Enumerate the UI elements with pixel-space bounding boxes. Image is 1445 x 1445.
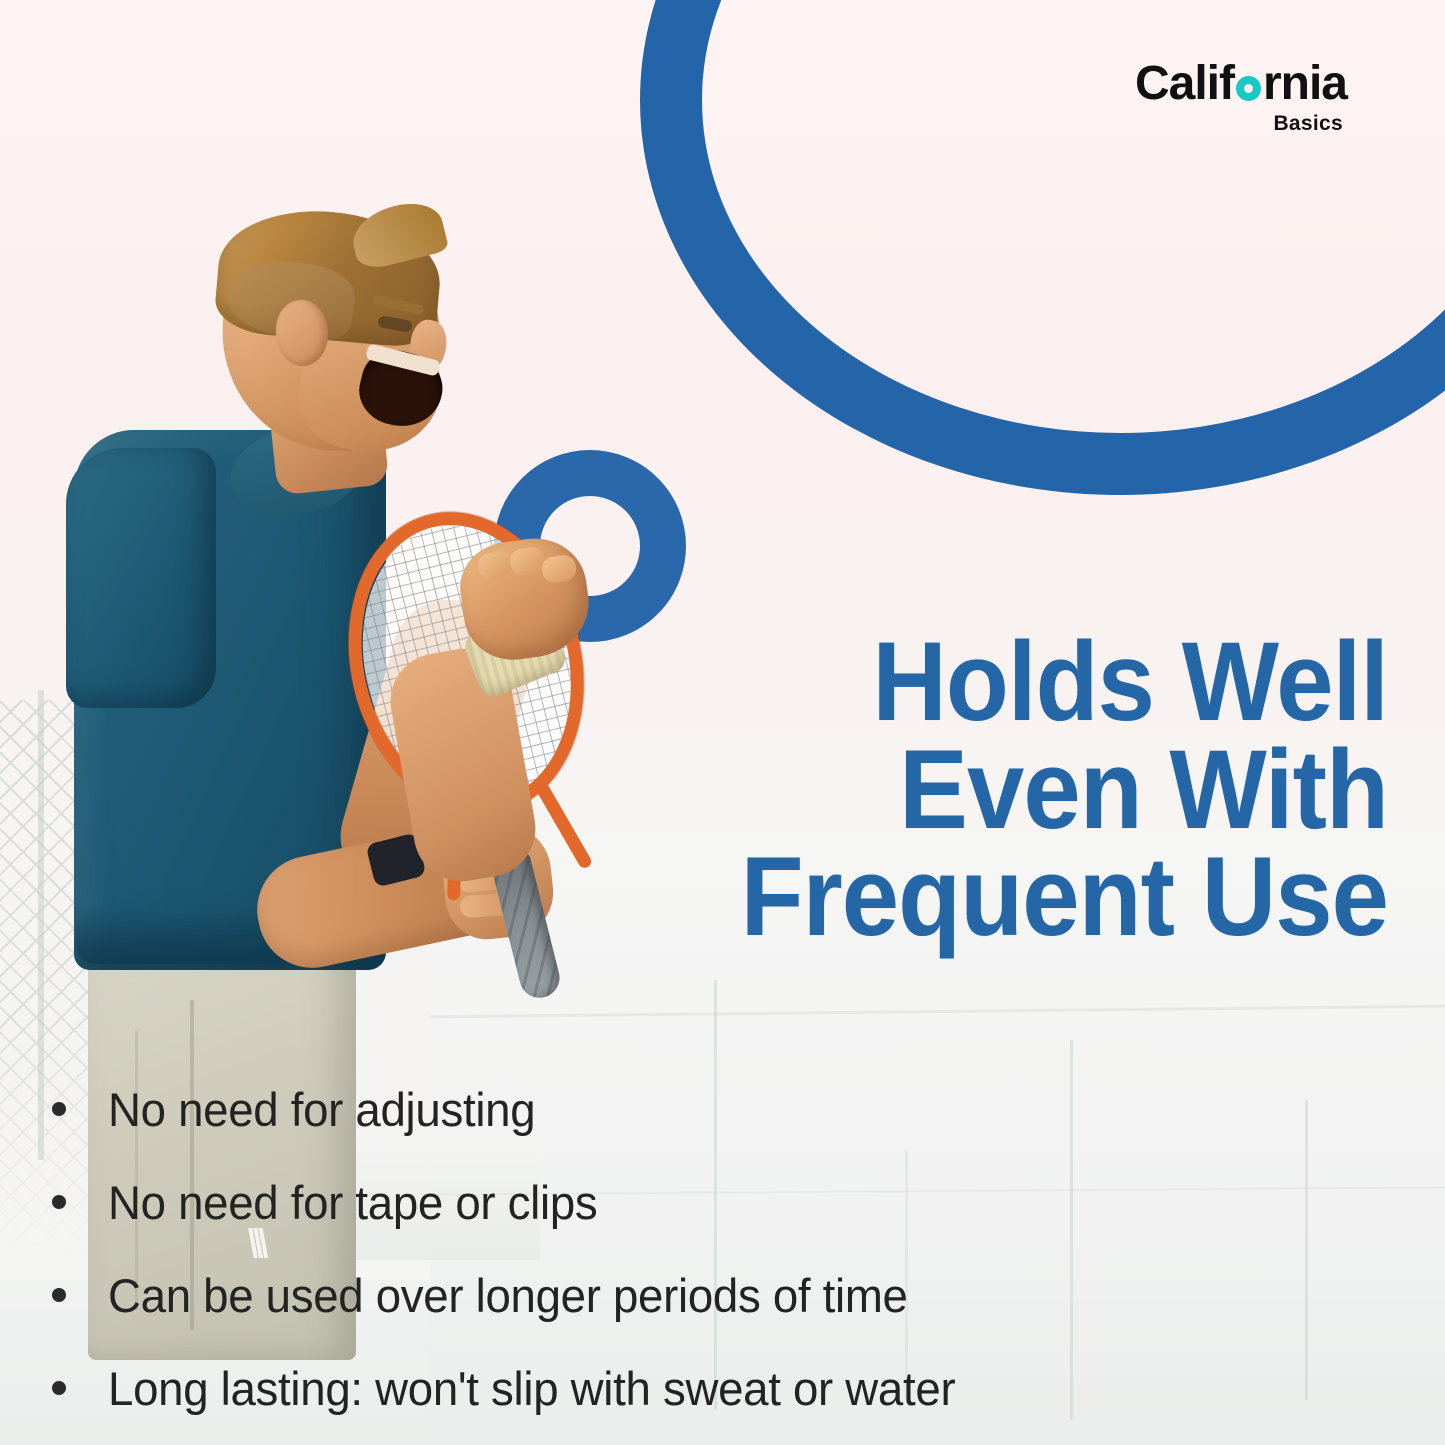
bullet-dot-icon: [52, 1381, 66, 1395]
bullet-dot-icon: [52, 1288, 66, 1302]
list-item: No need for adjusting: [52, 1082, 1232, 1175]
headline-line-3: Frequent Use: [578, 843, 1388, 951]
list-item: Can be used over longer periods of time: [52, 1268, 1232, 1361]
brand-logo-o-ring-icon: [1236, 76, 1261, 101]
feature-bullet-list: No need for adjusting No need for tape o…: [52, 1082, 1232, 1445]
list-item: Long lasting: won't slip with sweat or w…: [52, 1361, 1232, 1445]
bullet-dot-icon: [52, 1102, 66, 1116]
bullet-dot-icon: [52, 1195, 66, 1209]
headline-line-1: Holds Well: [578, 628, 1388, 736]
brand-logo-part-calif: Calif: [1135, 60, 1234, 108]
list-item: No need for tape or clips: [52, 1175, 1232, 1268]
headline-line-2: Even With: [578, 736, 1388, 844]
product-feature-banner: Calif rnia Basics Holds Well Even With F…: [0, 0, 1445, 1445]
brand-logo-wordmark: Calif rnia: [1135, 60, 1347, 108]
brand-logo-subtitle: Basics: [1135, 112, 1347, 136]
headline: Holds Well Even With Frequent Use: [578, 628, 1388, 951]
athlete-hair-spike: [347, 196, 450, 273]
feature-text: No need for adjusting: [108, 1082, 535, 1137]
feature-text: No need for tape or clips: [108, 1175, 597, 1230]
feature-text: Can be used over longer periods of time: [108, 1268, 908, 1323]
brand-logo: Calif rnia Basics: [1135, 60, 1347, 136]
fence-post: [1305, 1100, 1308, 1400]
feature-text: Long lasting: won't slip with sweat or w…: [108, 1361, 955, 1416]
brand-logo-part-rnia: rnia: [1263, 60, 1347, 108]
shirt-sleeve: [66, 448, 216, 708]
